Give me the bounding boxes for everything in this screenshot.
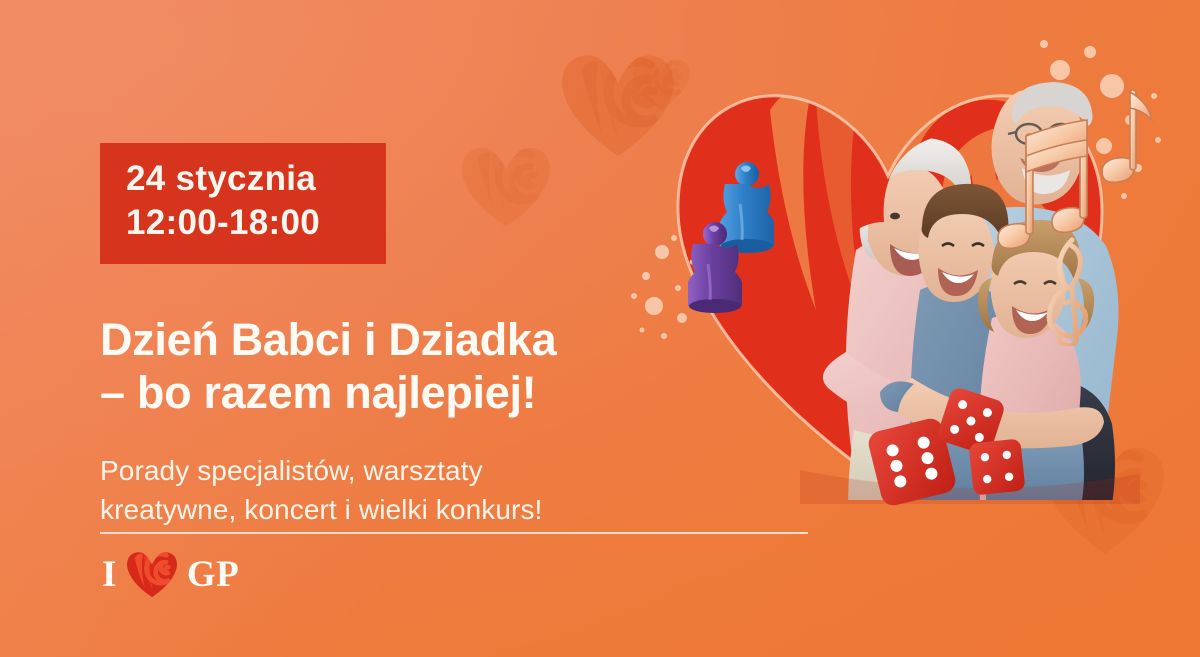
page-subtitle: Porady specjalistów, warsztaty kreatywne… <box>100 452 660 529</box>
brand-logo[interactable]: I GP <box>102 548 239 600</box>
artwork-collage <box>620 0 1200 657</box>
date-label: 24 stycznia <box>126 157 364 201</box>
heart-swirl-icon <box>123 549 181 599</box>
time-label: 12:00-18:00 <box>126 201 364 245</box>
logo-prefix: I <box>102 556 117 593</box>
content-column: 24 stycznia 12:00-18:00 Dzień Babci i Dz… <box>100 0 700 657</box>
logo-suffix: GP <box>187 556 239 593</box>
date-time-badge: 24 stycznia 12:00-18:00 <box>100 143 386 264</box>
die-small <box>965 435 1029 499</box>
event-promo-banner: 24 stycznia 12:00-18:00 Dzień Babci i Dz… <box>0 0 1200 657</box>
divider <box>100 532 808 534</box>
treble-clef-icon <box>1042 236 1098 346</box>
page-title: Dzień Babci i Dziadka – bo razem najlepi… <box>100 314 700 419</box>
